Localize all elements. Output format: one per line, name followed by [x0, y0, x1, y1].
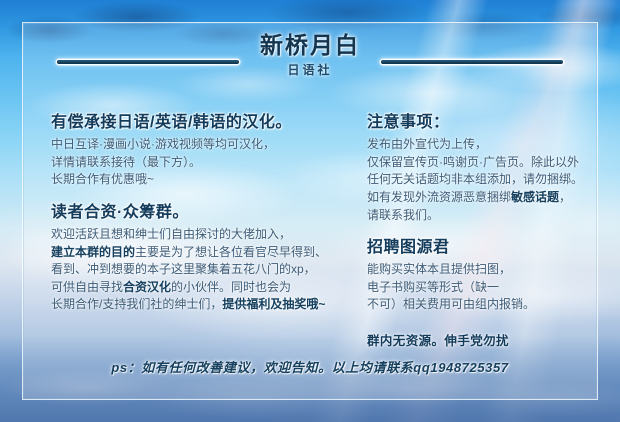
poster-image: 新桥月白 日语社 有偿承接日语/英语/韩语的汉化。 中日互译·漫画小说·游戏视频…	[0, 0, 620, 422]
section-heading: 有偿承接日语/英语/韩语的汉化。	[51, 113, 351, 133]
body-line: 发布由外宣代为上传，	[367, 136, 619, 154]
body-line: 任何无关话题均非本组添加，请勿捆绑。	[367, 171, 619, 189]
emphasis-text: 合资汉化	[123, 280, 171, 294]
section-notices: 注意事项： 发布由外宣代为上传， 仅保留宣传页·鸣谢页·广告页。除此以外 任何无…	[367, 113, 619, 224]
content-panel: 新桥月白 日语社 有偿承接日语/英语/韩语的汉化。 中日互译·漫画小说·游戏视频…	[22, 22, 598, 400]
body-line: 能购买实体本且提供扫图，	[367, 261, 619, 279]
body-line: 详情请联系接待（最下方）。	[51, 154, 351, 172]
body-line: 可供自由寻找合资汉化的小伙伴。同时也会为	[51, 279, 351, 297]
body-line: 如有发现外流资源恶意捆绑敏感话题，	[367, 189, 619, 207]
body-line: 欢迎活跃且想和绅士们自由探讨的大佬加入，	[51, 226, 351, 244]
body-line-rest: 主要是为了想让各位看官尽早得到、	[135, 245, 327, 259]
poster-header: 新桥月白 日语社	[23, 33, 597, 101]
title-block: 新桥月白 日语社	[23, 33, 597, 78]
emphasis-text: 建立本群的目的	[51, 245, 135, 259]
poster-footer: ps：如有任何改善建议，欢迎告知。以上均请联系qq1948725357	[23, 357, 597, 377]
section-body: 中日互译·漫画小说·游戏视频等均可汉化， 详情请联系接待（最下方）。 长期合作有…	[51, 136, 351, 189]
footer-contact-text: ps：如有任何改善建议，欢迎告知。以上均请联系qq1948725357	[111, 357, 508, 376]
body-line: 电子书购买等形式（缺一	[367, 279, 619, 297]
group-subtitle: 日语社	[23, 61, 597, 78]
body-line-part: 长期合作/支持我们社的绅士们，	[51, 297, 222, 311]
body-line: 长期合作/支持我们社的绅士们，提供福利及抽奖哦~	[51, 296, 351, 314]
body-line: 仅保留宣传页·鸣谢页·广告页。除此以外	[367, 154, 619, 172]
no-resources-warning: 群内无资源。伸手党勿扰	[367, 330, 619, 349]
body-line: 建立本群的目的主要是为了想让各位看官尽早得到、	[51, 244, 351, 262]
section-heading: 注意事项：	[367, 113, 619, 133]
group-title: 新桥月白	[23, 33, 597, 58]
section-heading: 读者合资·众筹群。	[51, 203, 351, 223]
section-reader-funding-group: 读者合资·众筹群。 欢迎活跃且想和绅士们自由探讨的大佬加入， 建立本群的目的主要…	[51, 203, 351, 314]
body-line: 不可）相关费用可由组内报销。	[367, 296, 619, 314]
section-recruit-scanner: 招聘图源君 能购买实体本且提供扫图， 电子书购买等形式（缺一 不可）相关费用可由…	[367, 238, 619, 349]
columns-container: 有偿承接日语/英语/韩语的汉化。 中日互译·漫画小说·游戏视频等均可汉化， 详情…	[23, 113, 597, 363]
section-translation-service: 有偿承接日语/英语/韩语的汉化。 中日互译·漫画小说·游戏视频等均可汉化， 详情…	[51, 113, 351, 189]
body-line: 长期合作有优惠哦~	[51, 171, 351, 189]
section-heading: 招聘图源君	[367, 238, 619, 258]
body-line: 请联系我们。	[367, 207, 619, 225]
right-column: 注意事项： 发布由外宣代为上传， 仅保留宣传页·鸣谢页·广告页。除此以外 任何无…	[367, 113, 619, 363]
body-line: 看到、冲到想要的本子这里聚集着五花八门的xp，	[51, 261, 351, 279]
body-line-part: ，	[559, 190, 571, 204]
emphasis-text: 敏感话题	[511, 190, 559, 204]
left-column: 有偿承接日语/英语/韩语的汉化。 中日互译·漫画小说·游戏视频等均可汉化， 详情…	[51, 113, 351, 328]
body-line-part: 可供自由寻找	[51, 280, 123, 294]
emphasis-text: 提供福利及抽奖哦~	[222, 297, 325, 311]
body-line: 中日互译·漫画小说·游戏视频等均可汉化，	[51, 136, 351, 154]
body-line-part: 的小伙伴。同时也会为	[171, 280, 291, 294]
section-body: 能购买实体本且提供扫图， 电子书购买等形式（缺一 不可）相关费用可由组内报销。	[367, 261, 619, 314]
body-line-part: 如有发现外流资源恶意捆绑	[367, 190, 511, 204]
section-body: 欢迎活跃且想和绅士们自由探讨的大佬加入， 建立本群的目的主要是为了想让各位看官尽…	[51, 226, 351, 314]
section-body: 发布由外宣代为上传， 仅保留宣传页·鸣谢页·广告页。除此以外 任何无关话题均非本…	[367, 136, 619, 224]
